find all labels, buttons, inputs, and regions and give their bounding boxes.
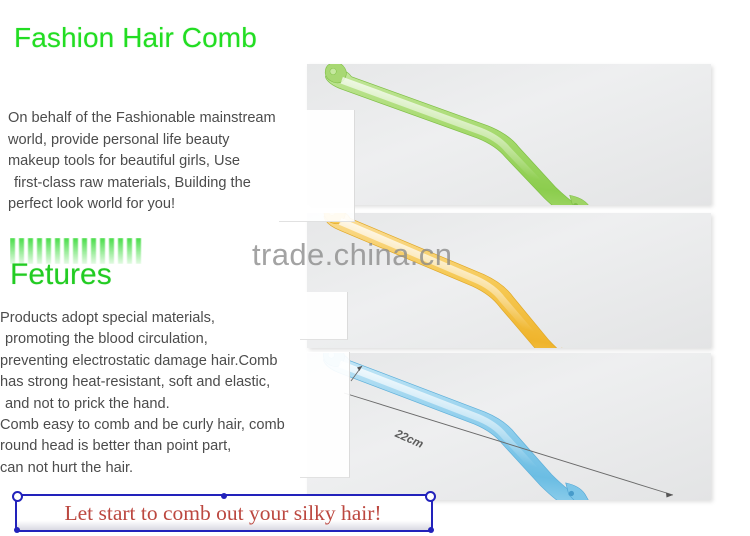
slogan-text: Let start to comb out your silky hair! [21, 501, 425, 526]
feature-line-1: Products adopt special materials, [0, 308, 348, 329]
product-marketing-image: Fashion Hair Comb [0, 0, 750, 536]
feature-line-8: can not hurt the hair. [0, 458, 348, 479]
feature-line-5: and not to prick the hand. [0, 394, 348, 415]
gold-comb-illustration [307, 213, 711, 348]
feature-line-2: promoting the blood circulation, [0, 329, 348, 350]
product-panel-green [307, 64, 711, 205]
slogan-banner: Let start to comb out your silky hair! [15, 494, 433, 532]
frame-handle-bottom-left[interactable] [14, 527, 20, 533]
intro-line-1: On behalf of the Fashionable mainstream [8, 108, 344, 130]
feature-line-7: round head is better than point part, [0, 436, 348, 457]
intro-line-5: perfect look world for you! [8, 194, 344, 216]
frame-handle-bottom-right[interactable] [428, 527, 434, 533]
intro-line-4: first-class raw materials, Building the [8, 173, 344, 195]
features-heading: Fetures [10, 258, 112, 292]
feature-line-3: preventing electrostatic damage hair.Com… [0, 351, 348, 372]
page-title: Fashion Hair Comb [14, 22, 257, 54]
frame-handle-top-center[interactable] [221, 493, 227, 499]
feature-line-4: has strong heat-resistant, soft and elas… [0, 372, 348, 393]
intro-line-3: makeup tools for beautiful girls, Use [8, 151, 344, 173]
feature-line-6: Comb easy to comb and be curly hair, com… [0, 415, 348, 436]
intro-paragraph: On behalf of the Fashionable mainstream … [8, 108, 344, 216]
watermark-text: trade.china.cn [252, 237, 452, 273]
product-panel-gold [307, 213, 711, 348]
product-panel-blue [307, 353, 711, 500]
blue-comb-illustration [307, 353, 711, 500]
features-paragraph: Products adopt special materials, promot… [0, 308, 348, 479]
green-comb-illustration [307, 64, 711, 205]
intro-line-2: world, provide personal life beauty [8, 130, 344, 152]
